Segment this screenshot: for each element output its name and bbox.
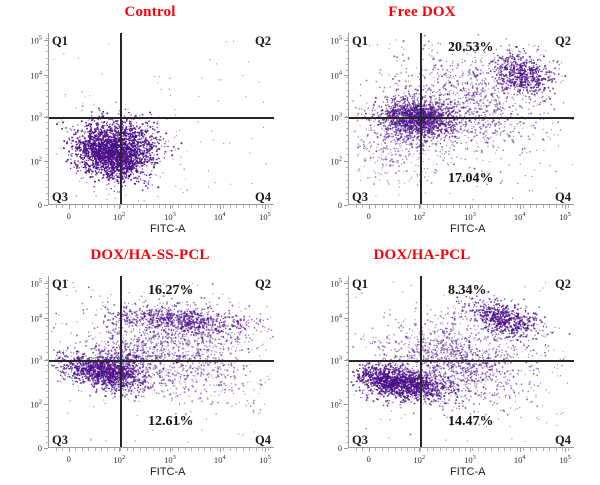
scatter-panel-dox-ha-ss-pcl: DOX/HA-SS-PCL10510410310200102103104105F… bbox=[0, 243, 300, 485]
x-minor-tick bbox=[453, 205, 454, 208]
x-minor-tick bbox=[543, 448, 544, 451]
x-minor-tick bbox=[268, 205, 269, 208]
q4-percent-free-dox: 17.04% bbox=[448, 172, 494, 186]
x-minor-tick bbox=[204, 205, 205, 208]
x-minor-tick bbox=[453, 448, 454, 451]
plot-area-dox-ha-ss-pcl: Q1Q2Q3Q416.27%12.61% bbox=[48, 276, 274, 448]
x-minor-tick bbox=[401, 205, 402, 208]
plot-frame-control: Q1Q2Q3Q4 bbox=[48, 33, 274, 205]
quadrant-label-q2-control: Q2 bbox=[255, 35, 271, 48]
x-minor-tick bbox=[530, 448, 531, 451]
x-minor-tick bbox=[243, 448, 244, 451]
x-axis-title: FITC-A bbox=[450, 466, 485, 478]
x-minor-tick bbox=[510, 205, 511, 208]
x-minor-tick bbox=[256, 205, 257, 208]
panel-title-dox-ha-pcl: DOX/HA-PCL bbox=[300, 247, 600, 264]
x-minor-tick bbox=[82, 448, 83, 451]
x-minor-tick bbox=[556, 205, 557, 208]
x-minor-tick bbox=[127, 205, 128, 208]
x-axis-title: FITC-A bbox=[150, 223, 185, 235]
x-minor-tick bbox=[172, 205, 173, 208]
x-minor-tick bbox=[401, 448, 402, 451]
x-minor-tick bbox=[491, 205, 492, 208]
x-minor-tick bbox=[249, 448, 250, 451]
quadrant-label-q4-control: Q4 bbox=[255, 191, 271, 204]
x-minor-tick bbox=[362, 448, 363, 451]
y-tick-label: 104 bbox=[30, 70, 42, 81]
x-minor-tick bbox=[178, 205, 179, 208]
plot-frame-free-dox: Q1Q2Q3Q420.53%17.04% bbox=[348, 33, 574, 205]
quadrant-label-q1-free-dox: Q1 bbox=[352, 35, 368, 48]
y-tick-label: 102 bbox=[330, 156, 342, 167]
x-minor-tick bbox=[185, 448, 186, 451]
x-minor-tick bbox=[440, 448, 441, 451]
x-minor-tick bbox=[165, 205, 166, 208]
x-tick-label: 0 bbox=[367, 454, 371, 464]
scatter-panel-control: Control10510410310200102103104105FITC-AQ… bbox=[0, 0, 300, 242]
x-minor-tick bbox=[362, 205, 363, 208]
x-minor-tick bbox=[120, 448, 121, 451]
x-tick-label: 105 bbox=[259, 211, 271, 222]
q2-percent-free-dox: 20.53% bbox=[448, 41, 494, 55]
x-minor-tick bbox=[478, 205, 479, 208]
x-minor-tick bbox=[375, 205, 376, 208]
x-minor-tick bbox=[210, 205, 211, 208]
panel-title-dox-ha-ss-pcl: DOX/HA-SS-PCL bbox=[0, 247, 300, 264]
scatter-points-control bbox=[49, 33, 274, 205]
x-minor-tick bbox=[262, 205, 263, 208]
scatter-panel-dox-ha-pcl: DOX/HA-PCL10510410310200102103104105FITC… bbox=[300, 243, 600, 485]
quadrant-label-q2-dox-ha-pcl: Q2 bbox=[555, 278, 571, 291]
quadrant-label-q2-free-dox: Q2 bbox=[555, 35, 571, 48]
x-minor-tick bbox=[101, 205, 102, 208]
x-minor-tick bbox=[568, 205, 569, 208]
x-minor-tick bbox=[420, 205, 421, 208]
x-minor-tick bbox=[369, 205, 370, 208]
x-tick-mark bbox=[565, 448, 566, 452]
x-minor-tick bbox=[198, 448, 199, 451]
x-minor-tick bbox=[88, 205, 89, 208]
x-minor-tick bbox=[114, 448, 115, 451]
x-tick-label: 104 bbox=[514, 454, 526, 465]
plot-frame-dox-ha-pcl: Q1Q2Q3Q48.34%14.47% bbox=[348, 276, 574, 448]
x-minor-tick bbox=[517, 205, 518, 208]
x-tick-label: 102 bbox=[113, 211, 125, 222]
x-minor-tick bbox=[178, 448, 179, 451]
x-minor-tick bbox=[140, 205, 141, 208]
x-minor-tick bbox=[395, 448, 396, 451]
x-minor-tick bbox=[101, 448, 102, 451]
quadrant-gate-horizontal-free-dox[interactable] bbox=[349, 117, 574, 119]
x-minor-tick bbox=[414, 448, 415, 451]
x-tick-label: 0 bbox=[367, 211, 371, 221]
x-tick-label: 103 bbox=[164, 454, 176, 465]
plot-area-dox-ha-pcl: Q1Q2Q3Q48.34%14.47% bbox=[348, 276, 574, 448]
x-minor-tick bbox=[420, 448, 421, 451]
quadrant-label-q3-free-dox: Q3 bbox=[352, 191, 368, 204]
x-minor-tick bbox=[230, 448, 231, 451]
x-minor-tick bbox=[82, 205, 83, 208]
x-minor-tick bbox=[107, 205, 108, 208]
y-tick-label: 103 bbox=[30, 111, 42, 122]
quadrant-label-q1-dox-ha-pcl: Q1 bbox=[352, 278, 368, 291]
y-tick-label: 102 bbox=[30, 399, 42, 410]
x-minor-tick bbox=[217, 448, 218, 451]
x-minor-tick bbox=[395, 205, 396, 208]
x-tick-mark bbox=[520, 205, 521, 209]
x-minor-tick bbox=[562, 448, 563, 451]
x-minor-tick bbox=[459, 205, 460, 208]
x-tick-label: 105 bbox=[259, 454, 271, 465]
x-minor-tick bbox=[268, 448, 269, 451]
y-tick-label: 102 bbox=[30, 156, 42, 167]
x-minor-tick bbox=[485, 205, 486, 208]
x-minor-tick bbox=[523, 205, 524, 208]
x-tick-label: 0 bbox=[67, 454, 71, 464]
x-minor-tick bbox=[465, 448, 466, 451]
x-minor-tick bbox=[191, 205, 192, 208]
x-minor-tick bbox=[172, 448, 173, 451]
x-minor-tick bbox=[230, 205, 231, 208]
y-tick-label: 104 bbox=[330, 313, 342, 324]
plot-area-free-dox: Q1Q2Q3Q420.53%17.04% bbox=[348, 33, 574, 205]
y-tick-label: 103 bbox=[30, 354, 42, 365]
y-tick-mark bbox=[344, 205, 348, 206]
quadrant-label-q4-dox-ha-pcl: Q4 bbox=[555, 434, 571, 447]
quadrant-label-q2-dox-ha-ss-pcl: Q2 bbox=[255, 278, 271, 291]
x-minor-tick bbox=[536, 448, 537, 451]
y-tick-label: 103 bbox=[330, 354, 342, 365]
x-minor-tick bbox=[433, 448, 434, 451]
x-tick-mark bbox=[520, 448, 521, 452]
x-minor-tick bbox=[75, 205, 76, 208]
x-minor-tick bbox=[256, 448, 257, 451]
x-axis-title: FITC-A bbox=[150, 466, 185, 478]
x-minor-tick bbox=[56, 205, 57, 208]
x-minor-tick bbox=[140, 448, 141, 451]
x-tick-mark bbox=[265, 448, 266, 452]
quadrant-gate-horizontal-control[interactable] bbox=[49, 117, 274, 119]
x-minor-tick bbox=[446, 448, 447, 451]
x-tick-label: 104 bbox=[214, 211, 226, 222]
x-minor-tick bbox=[498, 448, 499, 451]
x-tick-label: 102 bbox=[413, 211, 425, 222]
x-minor-tick bbox=[114, 205, 115, 208]
x-minor-tick bbox=[127, 448, 128, 451]
quadrant-label-q3-dox-ha-pcl: Q3 bbox=[352, 434, 368, 447]
x-minor-tick bbox=[159, 448, 160, 451]
panel-title-control: Control bbox=[0, 4, 300, 21]
quadrant-label-q1-dox-ha-ss-pcl: Q1 bbox=[52, 278, 68, 291]
q4-percent-dox-ha-pcl: 14.47% bbox=[448, 415, 494, 429]
x-minor-tick bbox=[536, 205, 537, 208]
x-minor-tick bbox=[62, 448, 63, 451]
x-minor-tick bbox=[262, 448, 263, 451]
x-tick-label: 104 bbox=[514, 211, 526, 222]
x-minor-tick bbox=[433, 205, 434, 208]
x-minor-tick bbox=[523, 448, 524, 451]
y-tick-label: 0 bbox=[338, 443, 342, 453]
y-tick-label: 102 bbox=[330, 399, 342, 410]
quadrant-gate-vertical-dox-ha-pcl[interactable] bbox=[420, 276, 422, 448]
x-minor-tick bbox=[375, 448, 376, 451]
x-minor-tick bbox=[249, 205, 250, 208]
x-tick-mark bbox=[220, 205, 221, 209]
q4-percent-dox-ha-ss-pcl: 12.61% bbox=[148, 415, 194, 429]
x-minor-tick bbox=[153, 205, 154, 208]
x-minor-tick bbox=[459, 448, 460, 451]
x-minor-tick bbox=[510, 448, 511, 451]
q2-percent-dox-ha-pcl: 8.34% bbox=[448, 284, 487, 298]
x-minor-tick bbox=[204, 448, 205, 451]
x-minor-tick bbox=[159, 205, 160, 208]
x-minor-tick bbox=[543, 205, 544, 208]
q2-percent-dox-ha-ss-pcl: 16.27% bbox=[148, 284, 194, 298]
x-tick-label: 104 bbox=[214, 454, 226, 465]
x-minor-tick bbox=[146, 448, 147, 451]
quadrant-label-q1-control: Q1 bbox=[52, 35, 68, 48]
y-tick-mark bbox=[44, 448, 48, 449]
x-minor-tick bbox=[146, 205, 147, 208]
quadrant-gate-vertical-control[interactable] bbox=[120, 33, 122, 205]
panel-title-free-dox: Free DOX bbox=[300, 4, 600, 21]
x-minor-tick bbox=[504, 205, 505, 208]
x-minor-tick bbox=[133, 205, 134, 208]
x-minor-tick bbox=[223, 448, 224, 451]
y-tick-label: 105 bbox=[30, 34, 42, 45]
y-tick-mark bbox=[344, 448, 348, 449]
x-minor-tick bbox=[56, 448, 57, 451]
x-minor-tick bbox=[472, 205, 473, 208]
x-minor-tick bbox=[62, 205, 63, 208]
x-minor-tick bbox=[407, 448, 408, 451]
y-tick-label: 104 bbox=[330, 70, 342, 81]
x-minor-tick bbox=[491, 448, 492, 451]
x-minor-tick bbox=[414, 205, 415, 208]
x-minor-tick bbox=[356, 205, 357, 208]
x-minor-tick bbox=[388, 205, 389, 208]
flow-cytometry-figure: Control10510410310200102103104105FITC-AQ… bbox=[0, 0, 600, 485]
x-minor-tick bbox=[217, 205, 218, 208]
x-minor-tick bbox=[210, 448, 211, 451]
quadrant-gate-vertical-free-dox[interactable] bbox=[420, 33, 422, 205]
x-tick-label: 105 bbox=[559, 454, 571, 465]
quadrant-gate-horizontal-dox-ha-pcl[interactable] bbox=[349, 360, 574, 362]
x-tick-label: 102 bbox=[413, 454, 425, 465]
y-tick-label: 0 bbox=[38, 200, 42, 210]
x-minor-tick bbox=[243, 205, 244, 208]
x-minor-tick bbox=[223, 205, 224, 208]
x-minor-tick bbox=[75, 448, 76, 451]
x-minor-tick bbox=[568, 448, 569, 451]
x-minor-tick bbox=[517, 448, 518, 451]
x-minor-tick bbox=[472, 448, 473, 451]
x-minor-tick bbox=[549, 448, 550, 451]
x-minor-tick bbox=[465, 205, 466, 208]
x-minor-tick bbox=[88, 448, 89, 451]
x-tick-label: 0 bbox=[67, 211, 71, 221]
x-minor-tick bbox=[356, 448, 357, 451]
x-tick-label: 103 bbox=[464, 454, 476, 465]
x-axis-title: FITC-A bbox=[450, 223, 485, 235]
x-minor-tick bbox=[446, 205, 447, 208]
y-tick-label: 105 bbox=[30, 277, 42, 288]
x-tick-mark bbox=[220, 448, 221, 452]
x-minor-tick bbox=[120, 205, 121, 208]
x-minor-tick bbox=[69, 205, 70, 208]
x-minor-tick bbox=[95, 205, 96, 208]
y-tick-label: 103 bbox=[330, 111, 342, 122]
x-minor-tick bbox=[95, 448, 96, 451]
x-minor-tick bbox=[478, 448, 479, 451]
x-minor-tick bbox=[407, 205, 408, 208]
x-tick-mark bbox=[265, 205, 266, 209]
x-minor-tick bbox=[153, 448, 154, 451]
x-minor-tick bbox=[185, 205, 186, 208]
x-tick-label: 103 bbox=[464, 211, 476, 222]
x-minor-tick bbox=[498, 205, 499, 208]
quadrant-label-q4-dox-ha-ss-pcl: Q4 bbox=[255, 434, 271, 447]
x-minor-tick bbox=[556, 448, 557, 451]
x-minor-tick bbox=[198, 205, 199, 208]
x-minor-tick bbox=[236, 205, 237, 208]
plot-frame-dox-ha-ss-pcl: Q1Q2Q3Q416.27%12.61% bbox=[48, 276, 274, 448]
quadrant-label-q3-dox-ha-ss-pcl: Q3 bbox=[52, 434, 68, 447]
x-minor-tick bbox=[165, 448, 166, 451]
scatter-panel-free-dox: Free DOX10510410310200102103104105FITC-A… bbox=[300, 0, 600, 242]
x-tick-label: 105 bbox=[559, 211, 571, 222]
x-minor-tick bbox=[388, 448, 389, 451]
x-tick-label: 103 bbox=[164, 211, 176, 222]
x-minor-tick bbox=[133, 448, 134, 451]
x-minor-tick bbox=[530, 205, 531, 208]
x-minor-tick bbox=[504, 448, 505, 451]
x-minor-tick bbox=[191, 448, 192, 451]
x-minor-tick bbox=[69, 448, 70, 451]
x-minor-tick bbox=[549, 205, 550, 208]
quadrant-label-q3-control: Q3 bbox=[52, 191, 68, 204]
x-minor-tick bbox=[382, 448, 383, 451]
x-minor-tick bbox=[427, 205, 428, 208]
y-tick-label: 105 bbox=[330, 277, 342, 288]
y-tick-label: 0 bbox=[338, 200, 342, 210]
x-minor-tick bbox=[107, 448, 108, 451]
y-tick-label: 104 bbox=[30, 313, 42, 324]
x-minor-tick bbox=[382, 205, 383, 208]
x-minor-tick bbox=[440, 205, 441, 208]
quadrant-gate-vertical-dox-ha-ss-pcl[interactable] bbox=[120, 276, 122, 448]
plot-area-control: Q1Q2Q3Q4 bbox=[48, 33, 274, 205]
x-tick-mark bbox=[565, 205, 566, 209]
x-minor-tick bbox=[369, 448, 370, 451]
quadrant-label-q4-free-dox: Q4 bbox=[555, 191, 571, 204]
x-minor-tick bbox=[427, 448, 428, 451]
x-minor-tick bbox=[562, 205, 563, 208]
y-tick-label: 105 bbox=[330, 34, 342, 45]
x-tick-label: 102 bbox=[113, 454, 125, 465]
quadrant-gate-horizontal-dox-ha-ss-pcl[interactable] bbox=[49, 360, 274, 362]
x-minor-tick bbox=[485, 448, 486, 451]
y-tick-label: 0 bbox=[38, 443, 42, 453]
x-minor-tick bbox=[236, 448, 237, 451]
y-tick-mark bbox=[44, 205, 48, 206]
